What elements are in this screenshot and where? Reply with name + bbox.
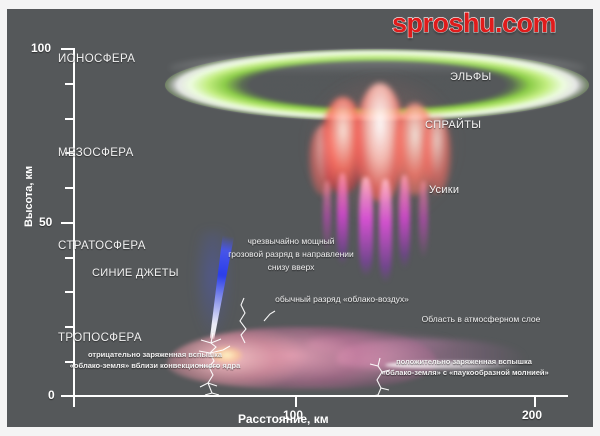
y-tick-20 (65, 326, 74, 328)
layer-label-ionosphere: ИОНОСФЕРА (58, 53, 135, 65)
sprite-tendril-5 (399, 175, 410, 269)
feature-label-blue-jets: СИНИЕ ДЖЕТЫ (92, 267, 179, 279)
sprite-tendril-3 (359, 177, 373, 277)
x-tick-200 (534, 395, 536, 407)
note-positive-flash-line2: «облако-земля» с «паукообразной молнией» (359, 368, 571, 379)
sprite-tendril-4 (379, 179, 392, 283)
feature-label-elves: ЭЛЬФЫ (450, 71, 492, 83)
x-tick-0 (73, 395, 75, 407)
y-axis-value-50: 50 (39, 215, 52, 229)
layer-label-stratosphere: СТРАТОСФЕРА (58, 240, 146, 252)
y-axis-title: Высота, км (23, 166, 35, 227)
watermark-sproshu: sproshu.com (392, 8, 556, 39)
note-powerful-discharge-line1: чрезвычайно мощный (211, 235, 371, 247)
layer-label-mesosphere: МЕЗОСФЕРА (58, 147, 134, 159)
y-tick-100 (61, 48, 74, 50)
y-tick-50 (61, 222, 74, 224)
y-axis-value-100: 100 (31, 41, 51, 55)
feature-label-tendrils: Усики (429, 184, 459, 196)
plot-area: 100 50 0 100 200 Высота, км Расстояние, … (7, 9, 593, 427)
y-tick-60 (65, 187, 74, 189)
layer-label-troposphere: ТРОПОСФЕРА (58, 332, 142, 344)
x-axis-title: Расстояние, км (238, 412, 329, 426)
x-axis-value-200: 200 (522, 408, 542, 422)
note-powerful-discharge-line3: снизу вверх (221, 261, 361, 273)
y-tick-40 (65, 257, 74, 259)
note-negative-flash-line1: отрицательно заряженная вспышка (55, 350, 255, 361)
x-axis-line (73, 395, 568, 397)
y-tick-80 (65, 118, 74, 120)
note-cloud-air-discharge: обычный разряд «облако-воздух» (252, 293, 432, 305)
y-tick-90 (65, 83, 74, 85)
y-axis-value-0: 0 (48, 388, 55, 402)
x-tick-100 (295, 395, 297, 407)
feature-label-sprites: СПРАЙТЫ (425, 119, 481, 131)
sprite-tendril-6 (419, 181, 428, 259)
note-negative-flash-line2: «облако-земля» вблизи конвекционного ядр… (47, 361, 263, 372)
y-tick-30 (65, 291, 74, 293)
note-powerful-discharge-line2: грозовой разряд в направлении (201, 248, 381, 260)
diagram-screenshot: 100 50 0 100 200 Высота, км Расстояние, … (0, 0, 600, 436)
note-atmospheric-region: Область в атмосферном слое (396, 313, 566, 325)
note-positive-flash-line1: положительно заряженная вспышка (374, 357, 554, 368)
cloud-air-discharge-tick (262, 309, 278, 323)
